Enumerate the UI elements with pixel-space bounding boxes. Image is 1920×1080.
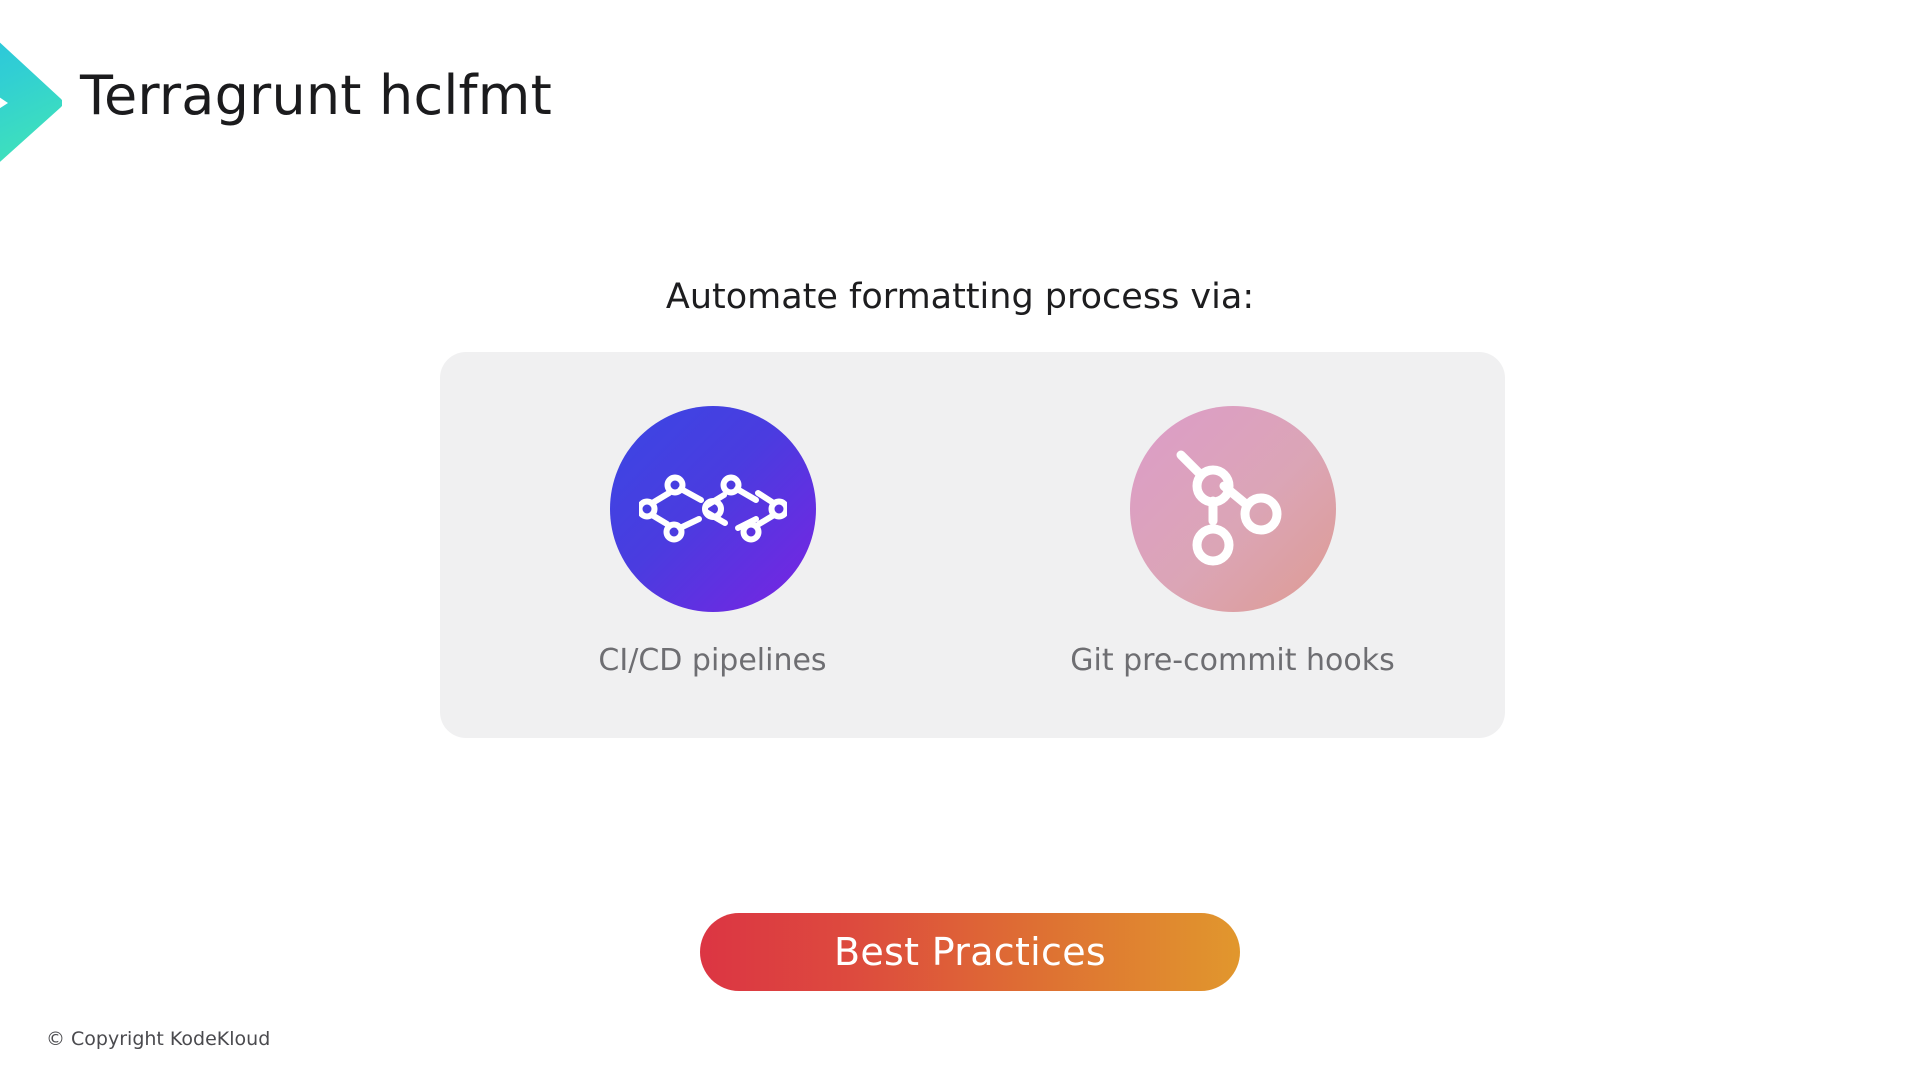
method-item-git[interactable]: Git pre-commit hooks	[1083, 406, 1383, 680]
methods-row: CI/CD pipelines	[563, 406, 1383, 680]
copyright-text: © Copyright KodeKloud	[46, 1026, 270, 1052]
method-label-cicd: CI/CD pipelines	[598, 642, 826, 680]
git-branch-icon	[1130, 406, 1336, 612]
infinity-devops-icon	[610, 406, 816, 612]
slide-content: Automate formatting process via:	[0, 0, 1920, 1080]
methods-card: CI/CD pipelines	[440, 352, 1505, 738]
best-practices-button[interactable]: Best Practices	[700, 913, 1240, 991]
method-item-cicd[interactable]: CI/CD pipelines	[563, 406, 863, 680]
section-heading: Automate formatting process via:	[0, 275, 1920, 319]
method-label-git: Git pre-commit hooks	[1070, 642, 1395, 680]
